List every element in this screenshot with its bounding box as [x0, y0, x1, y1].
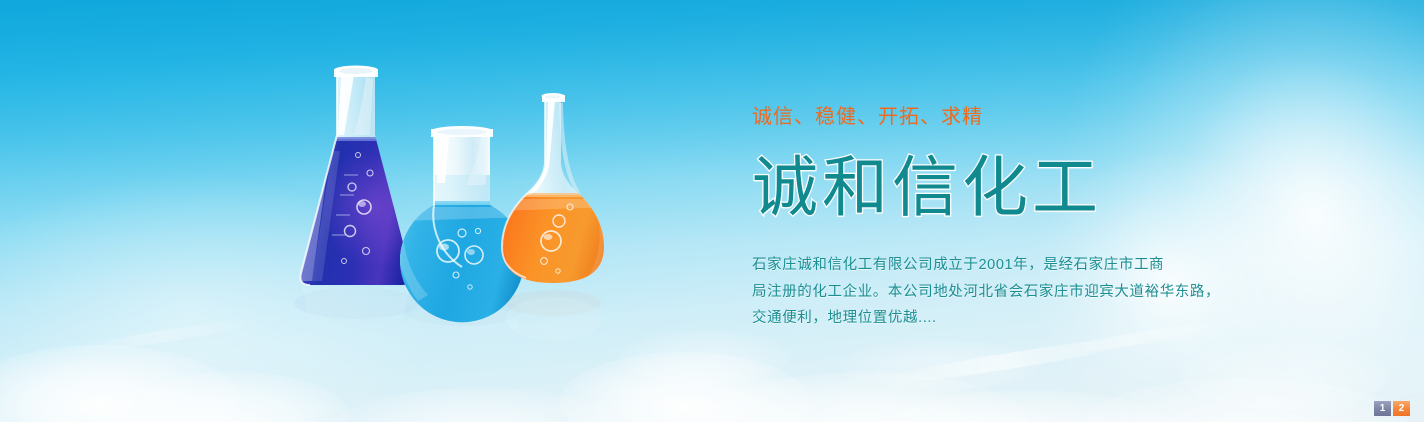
description-line-3: 交通便利，地理位置优越....	[752, 305, 1312, 332]
pear-flask-orange	[494, 93, 614, 295]
banner-tagline: 诚信、稳健、开拓、求精	[752, 104, 1312, 130]
banner-headline: 诚和信化工	[752, 152, 1312, 222]
banner-copy: 诚信、稳健、开拓、求精 诚和信化工 石家庄诚和信化工有限公司成立于2001年，是…	[752, 104, 1312, 332]
description-line-2: 局注册的化工企业。本公司地处河北省会石家庄市迎宾大道裕华东路，	[752, 279, 1312, 306]
banner-description: 石家庄诚和信化工有限公司成立于2001年，是经石家庄市工商 局注册的化工企业。本…	[752, 252, 1312, 332]
cloud	[1180, 340, 1390, 410]
hero-banner: 诚信、稳健、开拓、求精 诚和信化工 石家庄诚和信化工有限公司成立于2001年，是…	[0, 0, 1424, 422]
description-line-1: 石家庄诚和信化工有限公司成立于2001年，是经石家庄市工商	[752, 252, 1312, 279]
pagination-slide-1[interactable]: 1	[1374, 401, 1391, 416]
chemistry-flasks-illustration	[278, 55, 628, 355]
cloud	[620, 330, 790, 384]
flasks-svg	[278, 55, 628, 355]
pagination-slide-2[interactable]: 2	[1393, 401, 1410, 416]
banner-pagination[interactable]: 1 2	[1374, 401, 1410, 416]
